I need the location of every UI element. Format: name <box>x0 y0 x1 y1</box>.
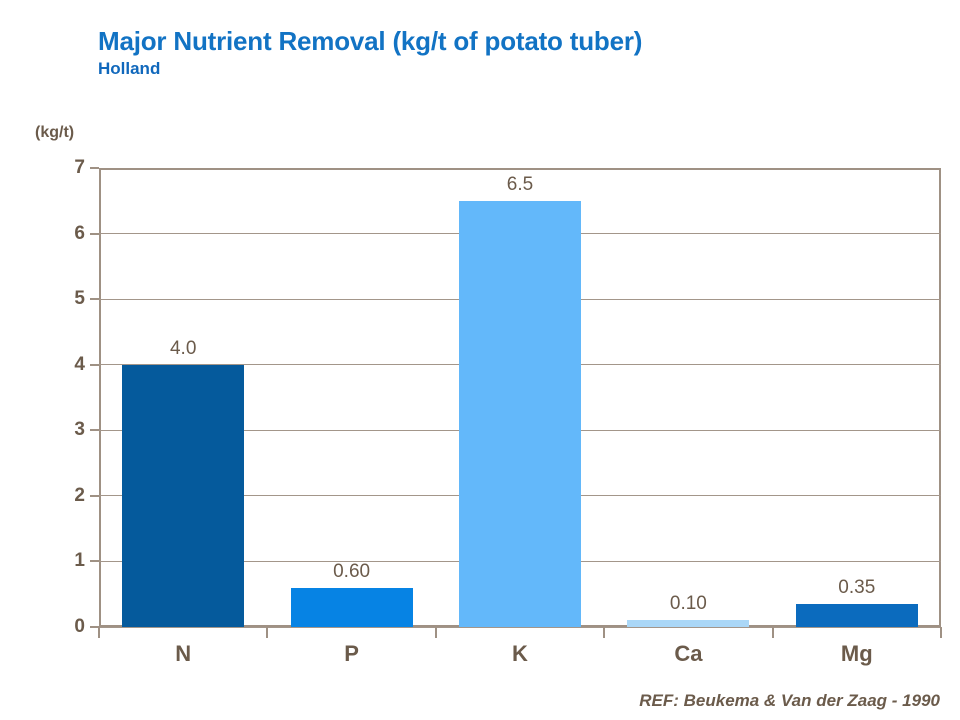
bar-n[interactable]: 4.0 <box>122 365 244 627</box>
x-axis-tick <box>940 627 942 638</box>
y-axis-tick-label: 2 <box>74 485 85 507</box>
x-axis-label-n: N <box>175 641 191 667</box>
x-axis-tick <box>435 627 437 638</box>
y-axis-tick <box>90 429 99 431</box>
y-axis-unit-label: (kg/t) <box>35 124 74 142</box>
title-block: Major Nutrient Removal (kg/t of potato t… <box>98 26 918 80</box>
reference-note: REF: Beukema & Van der Zaag - 1990 <box>639 691 940 711</box>
y-axis-tick-label: 6 <box>74 223 85 245</box>
bar-k[interactable]: 6.5 <box>459 201 581 627</box>
y-axis-tick-label: 7 <box>74 157 85 179</box>
x-axis-tick <box>98 627 100 638</box>
x-axis-tick <box>266 627 268 638</box>
x-axis-label-mg: Mg <box>841 641 873 667</box>
y-axis-tick <box>90 167 99 169</box>
y-axis-tick-label: 0 <box>74 616 85 638</box>
y-axis-tick-label: 4 <box>74 354 85 376</box>
y-axis-tick-label: 1 <box>74 550 85 572</box>
x-axis-tick <box>772 627 774 638</box>
bar-p[interactable]: 0.60 <box>291 588 413 627</box>
y-axis-tick-label: 5 <box>74 288 85 310</box>
bar-value-label: 6.5 <box>507 174 533 196</box>
page-title: Major Nutrient Removal (kg/t of potato t… <box>98 26 918 56</box>
y-axis-tick-label: 3 <box>74 419 85 441</box>
y-axis-tick <box>90 560 99 562</box>
bar-value-label: 0.60 <box>333 561 370 583</box>
y-axis-tick <box>90 364 99 366</box>
bar-value-label: 0.10 <box>670 593 707 615</box>
x-axis-label-p: P <box>344 641 359 667</box>
bar-value-label: 0.35 <box>838 577 875 599</box>
y-axis-tick <box>90 298 99 300</box>
chart-subtitle: Holland <box>98 58 918 80</box>
bar-mg[interactable]: 0.35 <box>796 604 918 627</box>
bar-chart: 01234567 4.00.606.50.100.35 NPKCaMg <box>99 168 941 627</box>
x-axis-label-k: K <box>512 641 528 667</box>
bar-ca[interactable]: 0.10 <box>627 620 749 627</box>
x-axis-tick <box>603 627 605 638</box>
x-axis-label-ca: Ca <box>674 641 702 667</box>
y-axis-tick <box>90 233 99 235</box>
y-axis-tick <box>90 495 99 497</box>
bar-value-label: 4.0 <box>170 338 196 360</box>
